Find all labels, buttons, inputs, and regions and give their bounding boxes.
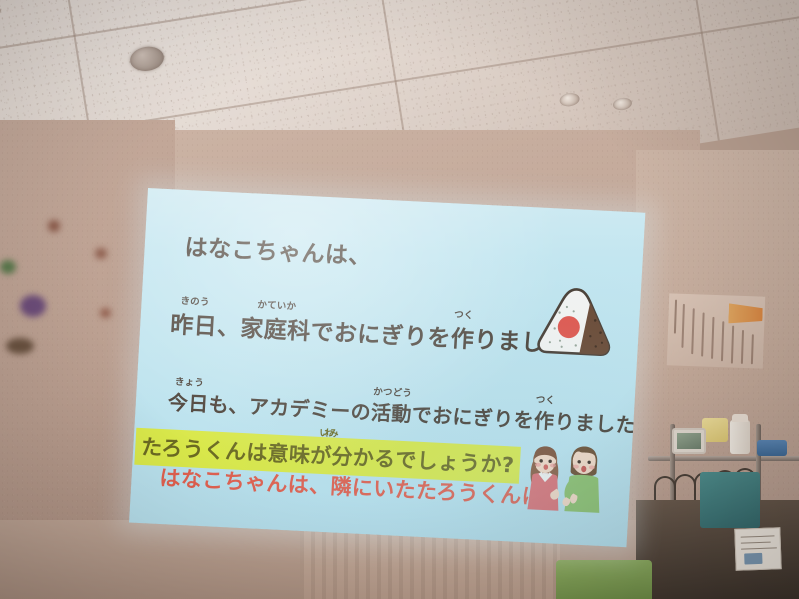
base-text: はなこちゃんは、 bbox=[184, 235, 372, 270]
kanji-with-furigana: 今日きょう bbox=[167, 386, 209, 417]
base-text: 昨日 bbox=[170, 312, 218, 340]
base-text: 、 bbox=[216, 315, 241, 342]
kanji-with-furigana: 昨日きのう bbox=[169, 305, 218, 341]
sign-image bbox=[744, 553, 762, 565]
kanji-with-furigana: 活動かつどう bbox=[370, 396, 412, 427]
base-text: も、アカデミーの bbox=[208, 392, 372, 424]
furigana-text: きょう bbox=[175, 374, 205, 389]
poster-text-line bbox=[751, 334, 754, 364]
monitor-object bbox=[672, 428, 706, 454]
blue-tray-object bbox=[757, 440, 787, 456]
teal-box-object bbox=[700, 472, 760, 528]
plain-text-run: でおにぎりを bbox=[310, 312, 452, 353]
base-text: 隣 bbox=[330, 474, 353, 499]
onigiri-icon bbox=[531, 281, 619, 363]
poster-text-line bbox=[691, 308, 695, 354]
small-sign-object bbox=[734, 527, 781, 571]
furigana-text: わ bbox=[324, 425, 334, 439]
plain-text-run: も、アカデミーの bbox=[208, 388, 372, 425]
kanji-with-furigana: 意味いみ bbox=[267, 441, 311, 467]
wall-decoration bbox=[48, 220, 60, 232]
two-children-icon bbox=[510, 425, 619, 522]
sign-text-line bbox=[741, 535, 775, 538]
sign-text-line bbox=[741, 542, 771, 544]
base-text: が bbox=[310, 443, 333, 468]
poster-text-line bbox=[731, 326, 734, 364]
poster-flag-graphic bbox=[728, 303, 763, 324]
wall-decoration bbox=[100, 308, 111, 318]
wall-decoration bbox=[6, 338, 34, 354]
plain-text-run: たろうくんは bbox=[141, 435, 269, 465]
base-text: 家庭科 bbox=[240, 316, 312, 345]
furigana-text: かていか bbox=[257, 297, 297, 313]
plain-text-run: はなこちゃんは、 bbox=[184, 228, 373, 271]
poster-text-line bbox=[674, 300, 677, 334]
base-text: 活動 bbox=[370, 400, 412, 426]
wall-poster bbox=[667, 293, 765, 368]
plain-text-run: かるでしょうか? bbox=[352, 446, 515, 478]
base-text: たろうくんは bbox=[141, 435, 269, 465]
base-text: 作 bbox=[450, 326, 475, 353]
kanji-with-furigana: 作つく bbox=[450, 319, 475, 354]
base-text: 今日 bbox=[167, 390, 209, 416]
poster-text-line bbox=[701, 313, 705, 357]
furigana-text: きのう bbox=[180, 293, 210, 308]
projection-screen: はなこちゃんは、 昨日きのう、家庭科かていかでおにぎりを作つくりました。 今日き… bbox=[129, 188, 645, 547]
wall-decoration bbox=[95, 248, 107, 259]
base-text: 分 bbox=[331, 444, 354, 469]
poster-text-line bbox=[721, 321, 724, 361]
poster-text-line bbox=[711, 317, 714, 359]
poster-text-line bbox=[741, 330, 744, 364]
kanji-with-furigana: 家庭科かていか bbox=[240, 309, 312, 346]
slide-line-1: はなこちゃんは、 bbox=[184, 228, 646, 285]
kanji-with-furigana: 分わ bbox=[331, 444, 354, 469]
wall-decoration bbox=[0, 260, 16, 274]
classroom-photo-scene: はなこちゃんは、 昨日きのう、家庭科かていかでおにぎりを作つくりました。 今日き… bbox=[0, 0, 799, 599]
bottle-object bbox=[730, 420, 750, 454]
base-text: でおにぎりを bbox=[310, 319, 452, 352]
furigana-text: つく bbox=[454, 306, 474, 321]
furigana-text: つく bbox=[535, 392, 555, 407]
plain-text-run: 、 bbox=[216, 308, 241, 343]
base-text: かるでしょうか? bbox=[352, 446, 515, 478]
base-text: 意味 bbox=[267, 441, 311, 467]
sign-text-line bbox=[741, 547, 777, 550]
bottle-cap bbox=[732, 414, 748, 422]
plain-text-run: が bbox=[310, 443, 333, 468]
furigana-text: かつどう bbox=[373, 383, 413, 399]
wall-decoration bbox=[20, 295, 46, 317]
slide-content: はなこちゃんは、 昨日きのう、家庭科かていかでおにぎりを作つくりました。 今日き… bbox=[129, 188, 645, 547]
poster-text-line bbox=[681, 304, 685, 348]
monitor-screen bbox=[677, 433, 701, 449]
green-bin-object bbox=[556, 560, 652, 599]
